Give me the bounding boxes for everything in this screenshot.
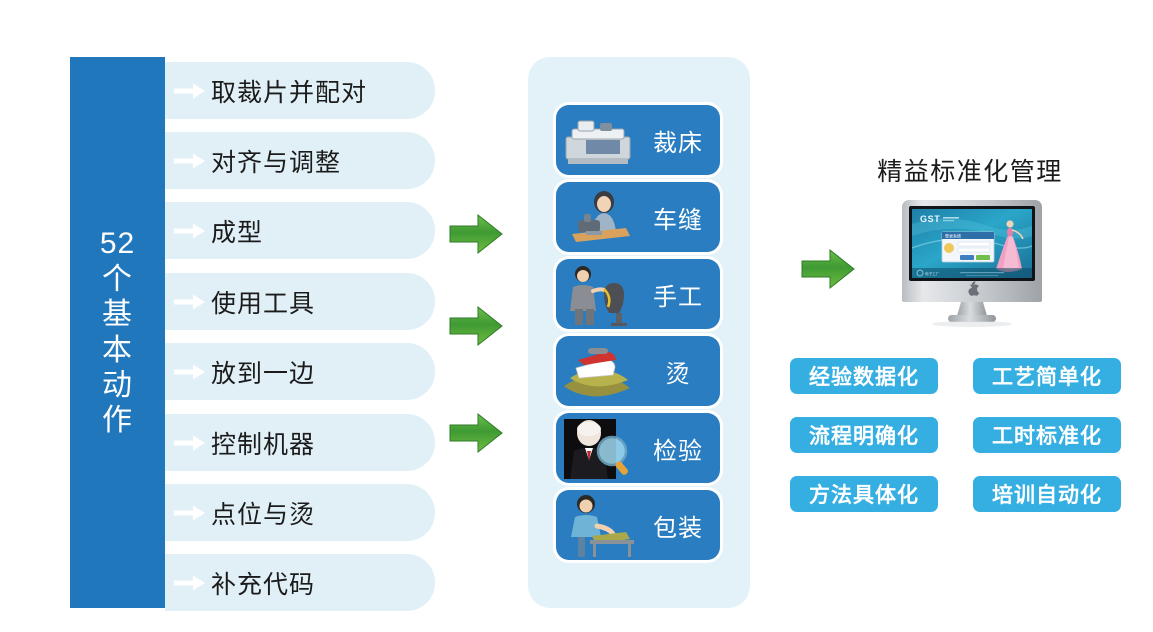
benefit-tag[interactable]: 流程明确化: [790, 417, 938, 453]
action-row[interactable]: 补充代码: [165, 554, 435, 611]
sewing-operator-icon: [556, 184, 642, 250]
action-row[interactable]: 放到一边: [165, 343, 435, 400]
action-label: 控制机器: [207, 425, 435, 461]
action-label: 补充代码: [207, 565, 435, 601]
svg-text:GST: GST: [920, 214, 940, 224]
process-card-label: 检验: [642, 431, 720, 466]
arrow-right-icon: [173, 222, 207, 240]
action-row[interactable]: 对齐与调整: [165, 132, 435, 189]
left-blue-bar: 52 个 基 本 动 作: [70, 57, 165, 608]
action-label: 放到一边: [207, 354, 435, 390]
green-arrow-right-icon: [448, 412, 504, 454]
process-card-label: 手工: [642, 277, 720, 312]
action-row[interactable]: 取裁片并配对: [165, 62, 435, 119]
iron-pressing-icon: [556, 338, 642, 404]
action-row[interactable]: 控制机器: [165, 414, 435, 471]
inspector-magnifier-icon: [556, 415, 642, 481]
arrow-right-icon: [173, 574, 207, 592]
action-label: 取裁片并配对: [207, 73, 435, 109]
benefit-tag[interactable]: 经验数据化: [790, 358, 938, 394]
page-title: 精益标准化管理: [830, 152, 1110, 188]
arrow-right-icon: [173, 504, 207, 522]
process-card[interactable]: 烫: [556, 336, 720, 406]
svg-text:登录系统: 登录系统: [945, 233, 961, 239]
green-arrow-right-icon: [448, 305, 504, 347]
green-arrow-right-icon: [800, 248, 856, 290]
arrow-right-icon: [173, 152, 207, 170]
process-card-label: 包装: [642, 508, 720, 543]
tailor-mannequin-icon: [556, 261, 642, 327]
action-label: 对齐与调整: [207, 143, 435, 179]
green-arrow-right-icon: [448, 213, 504, 255]
action-label: 使用工具: [207, 284, 435, 320]
benefit-tag-grid: 经验数据化 工艺简单化 流程明确化 工时标准化 方法具体化 培训自动化: [790, 358, 1135, 518]
process-card[interactable]: 手工: [556, 259, 720, 329]
imac-computer-icon: GST 登录系统 电子工厂: [898, 196, 1046, 328]
action-row[interactable]: 使用工具: [165, 273, 435, 330]
arrow-right-icon: [173, 434, 207, 452]
benefit-tag[interactable]: 工时标准化: [973, 417, 1121, 453]
process-card[interactable]: 车缝: [556, 182, 720, 252]
arrow-right-icon: [173, 363, 207, 381]
cutting-machine-icon: [556, 107, 642, 173]
action-row[interactable]: 成型: [165, 202, 435, 259]
action-list: 取裁片并配对 对齐与调整 成型 使用工具 放到一边: [165, 62, 435, 610]
process-card[interactable]: 包装: [556, 490, 720, 560]
process-card-label: 烫: [642, 354, 720, 389]
process-card[interactable]: 检验: [556, 413, 720, 483]
svg-text:电子工厂: 电子工厂: [925, 271, 940, 276]
benefit-tag[interactable]: 方法具体化: [790, 476, 938, 512]
diagram-canvas: 52 个 基 本 动 作 取裁片并配对 对齐与调整 成型 使用工具: [0, 0, 1153, 632]
arrow-right-icon: [173, 82, 207, 100]
left-bar-title: 52 个 基 本 动 作: [70, 57, 165, 608]
process-card-label: 裁床: [642, 123, 720, 158]
process-card[interactable]: 裁床: [556, 105, 720, 175]
process-card-label: 车缝: [642, 200, 720, 235]
arrow-right-icon: [173, 293, 207, 311]
packing-worker-icon: [556, 492, 642, 558]
action-label: 成型: [207, 213, 435, 249]
action-label: 点位与烫: [207, 495, 435, 531]
process-panel: 裁床 车缝: [528, 57, 750, 608]
benefit-tag[interactable]: 工艺简单化: [973, 358, 1121, 394]
action-row[interactable]: 点位与烫: [165, 484, 435, 541]
benefit-tag[interactable]: 培训自动化: [973, 476, 1121, 512]
